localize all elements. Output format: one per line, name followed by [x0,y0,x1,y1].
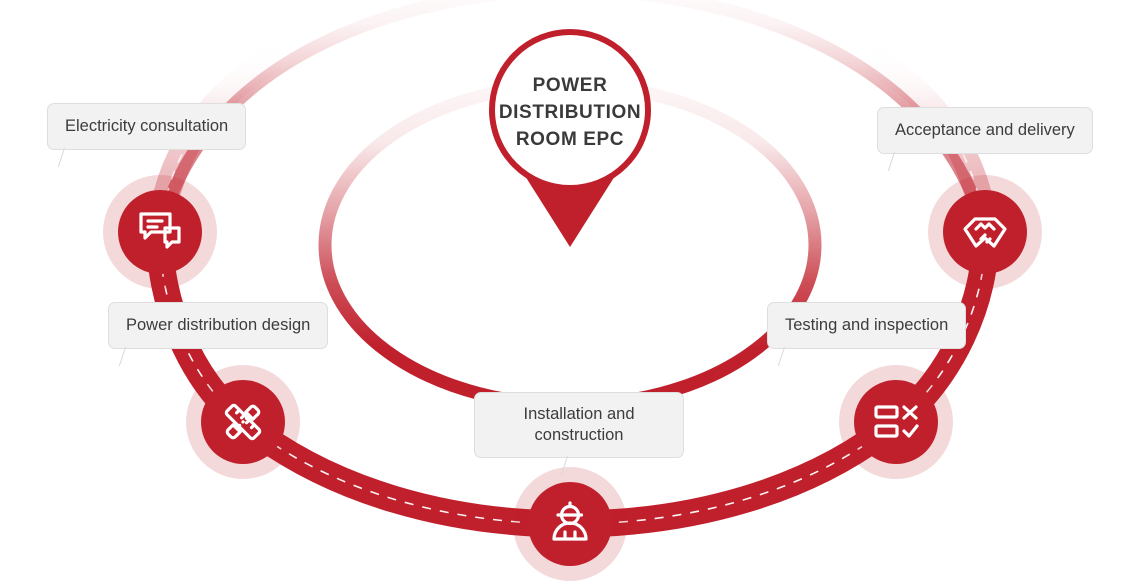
step-label-testing-and-inspection[interactable]: Testing and inspection [767,302,966,349]
node-circle-4 [854,380,938,464]
diagram-canvas: POWER DISTRIBUTION ROOM EPC Electricity … [0,0,1139,587]
node-circle-1 [118,190,202,274]
step-label-power-distribution-design[interactable]: Power distribution design [108,302,328,349]
step-label-text-3-line-2: construction [492,425,666,446]
step-label-acceptance-and-delivery[interactable]: Acceptance and delivery [877,107,1093,154]
node-circle-5 [943,190,1027,274]
node-circle-2 [201,380,285,464]
step-label-text-4: Testing and inspection [785,316,948,334]
step-label-text-2: Power distribution design [126,316,310,334]
step-label-text-5: Acceptance and delivery [895,121,1075,139]
step-label-text-1: Electricity consultation [65,117,228,135]
step-label-installation-and-construction[interactable]: Installation and construction [474,392,684,458]
step-label-electricity-consultation[interactable]: Electricity consultation [47,103,246,150]
map-pin-marker [492,32,648,247]
step-label-text-3-line-1: Installation and [492,404,666,425]
process-flow-graphic [0,0,1139,587]
node-circle-3 [528,482,612,566]
